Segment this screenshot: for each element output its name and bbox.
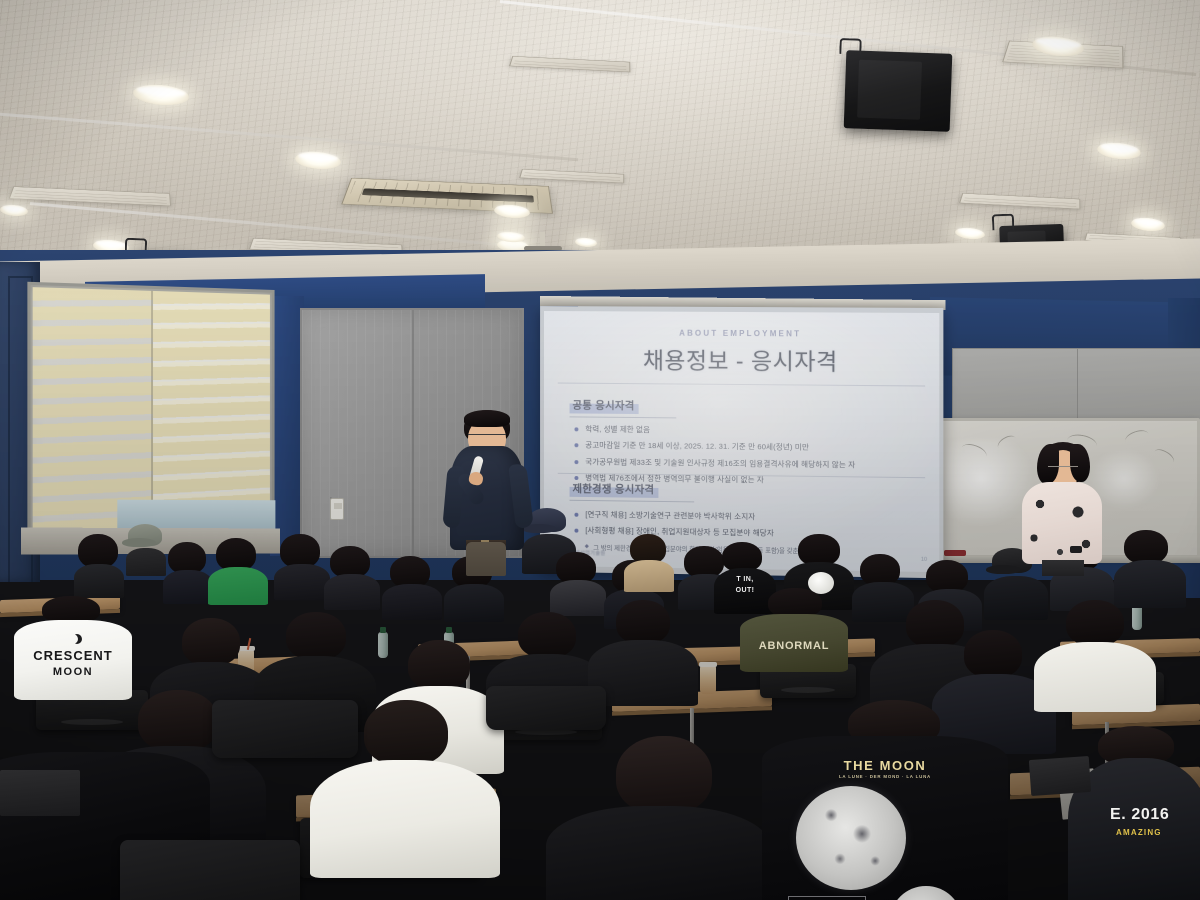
bottle-cap bbox=[380, 627, 386, 633]
laptop bbox=[1029, 756, 1091, 796]
audience-torso-black-tshirt: THE MOON LA LUNE · DER MOND · LA LUNA bbox=[762, 736, 1008, 900]
glasses-icon bbox=[1048, 466, 1078, 467]
audience-head bbox=[286, 612, 346, 660]
slide-divider bbox=[558, 383, 925, 387]
slide-bullet: 공고마감일 기준 만 18세 이상, 2025. 12. 31. 기준 만 60… bbox=[573, 441, 925, 454]
slide-title: 채용정보 - 응시자격 bbox=[544, 341, 939, 378]
presenter-staff bbox=[1022, 442, 1102, 572]
slide-section-heading: 공통 응시자격 bbox=[570, 397, 639, 415]
audience-torso-white bbox=[1034, 642, 1156, 712]
audience-torso bbox=[163, 570, 213, 604]
shirt-text-line1: ABNORMAL bbox=[740, 640, 848, 652]
audience-torso bbox=[324, 574, 380, 610]
presenter-speaker bbox=[444, 410, 530, 575]
audience-torso-olive-tshirt: ABNORMAL bbox=[740, 614, 848, 672]
moon-far-side-icon bbox=[890, 886, 962, 900]
bottle-cap bbox=[446, 627, 452, 633]
lecture-hall-photo: ABOUT EMPLOYMENT 채용정보 - 응시자격 공통 응시자격 학력,… bbox=[0, 0, 1200, 900]
speaker-bracket bbox=[992, 214, 1015, 231]
projection-screen: ABOUT EMPLOYMENT 채용정보 - 응시자격 공통 응시자격 학력,… bbox=[540, 306, 943, 578]
audience-torso bbox=[984, 576, 1048, 620]
slide-kicker: ABOUT EMPLOYMENT bbox=[544, 328, 939, 339]
audience-head bbox=[906, 600, 964, 648]
full-moon-icon bbox=[796, 786, 906, 890]
glasses-icon bbox=[468, 434, 506, 435]
audience-torso bbox=[852, 582, 914, 622]
laptop bbox=[0, 770, 80, 816]
audience-torso bbox=[624, 560, 674, 592]
cap-brim bbox=[986, 565, 1020, 574]
audience-head bbox=[616, 736, 712, 814]
wristwatch bbox=[1070, 546, 1082, 553]
slide-bullet: 학력, 성별 제한 없음 bbox=[573, 424, 925, 437]
slide-bullet: [사회형평 채용] 장애인, 취업지원대상자 등 모집분야 해당자 bbox=[573, 526, 925, 541]
audience-head bbox=[182, 618, 240, 666]
moon-phase-chart bbox=[788, 896, 866, 900]
zebra-blind-right[interactable] bbox=[153, 291, 270, 531]
audience-torso bbox=[74, 564, 124, 598]
audience-torso bbox=[444, 584, 504, 622]
audience-torso bbox=[382, 584, 442, 620]
blind-seam bbox=[151, 291, 153, 531]
shirt-text-line1: THE MOON bbox=[762, 758, 1008, 773]
backpack bbox=[120, 840, 300, 900]
shirt-text-line1: E. 2016 bbox=[1068, 806, 1200, 824]
audience-torso bbox=[274, 564, 330, 600]
water-bottle bbox=[378, 632, 388, 658]
presenter-trousers bbox=[466, 542, 506, 576]
staff-blouse bbox=[1022, 482, 1102, 564]
shirt-text-line2: OUT! bbox=[714, 587, 776, 594]
cup-lid bbox=[699, 662, 717, 667]
whiteboard-marker bbox=[944, 550, 966, 556]
staff-hair-side bbox=[1070, 444, 1090, 482]
shirt-text-line1: T IN, bbox=[714, 576, 776, 583]
audience-torso bbox=[546, 806, 770, 900]
audience-head bbox=[518, 612, 576, 658]
audience-head bbox=[138, 690, 218, 752]
wall-mounted-speaker bbox=[844, 50, 953, 132]
audience-torso: T IN, OUT! bbox=[714, 568, 776, 614]
audience-head bbox=[964, 630, 1022, 678]
audience-head bbox=[78, 534, 118, 568]
staff-skirt bbox=[1042, 560, 1084, 576]
backpack bbox=[486, 686, 606, 730]
baseball-cap bbox=[128, 524, 162, 546]
audience-head bbox=[1066, 600, 1124, 646]
baseball-cap bbox=[528, 508, 566, 532]
iced-coffee-cup bbox=[700, 666, 716, 694]
presenter-hair-top bbox=[464, 410, 510, 427]
shirt-text-line2: AMAZING bbox=[1068, 828, 1200, 837]
crescent-moon-icon bbox=[68, 634, 78, 644]
slide-section-underline bbox=[570, 416, 677, 418]
backpack bbox=[212, 700, 358, 758]
slide-section-underline bbox=[570, 500, 695, 503]
whiteboard-marking bbox=[1124, 428, 1151, 448]
audience-torso-white-tshirt: CRESCENT MOON bbox=[14, 620, 132, 700]
light-switch-panel[interactable] bbox=[330, 498, 344, 520]
audience-torso-white bbox=[310, 760, 500, 878]
audience-head bbox=[616, 600, 670, 644]
slide-bullet: [연구직 채용] 소방기술연구 관련분야 박사학위 소지자 bbox=[573, 510, 925, 524]
staff-hair-side bbox=[1037, 444, 1059, 484]
slide-bullet: 국가공무원법 제33조 및 기술원 인사규정 제16조의 임용결격사유에 해당하… bbox=[573, 457, 925, 471]
audience-torso-green bbox=[208, 567, 268, 605]
audience-head bbox=[364, 700, 448, 766]
shirt-text-line1: CRESCENT bbox=[14, 648, 132, 663]
wall-panel-right bbox=[952, 348, 1200, 420]
speaker-bracket bbox=[839, 38, 862, 55]
audience-torso bbox=[550, 580, 606, 616]
slide-section-heading: 제한경쟁 응시자격 bbox=[570, 480, 659, 498]
audience-torso bbox=[1114, 560, 1186, 608]
audience-torso bbox=[126, 548, 166, 576]
audience-head bbox=[408, 640, 470, 690]
shirt-text-line2: LA LUNE · DER MOND · LA LUNA bbox=[762, 774, 1008, 779]
audience-head bbox=[280, 534, 320, 568]
shirt-text-line2: MOON bbox=[14, 666, 132, 678]
audience-head bbox=[1124, 530, 1168, 564]
cap-brim bbox=[122, 538, 156, 547]
audience-member bbox=[128, 524, 164, 570]
presentation-slide: ABOUT EMPLOYMENT 채용정보 - 응시자격 공통 응시자격 학력,… bbox=[544, 311, 939, 572]
slide-page-number: 10 bbox=[921, 557, 927, 563]
